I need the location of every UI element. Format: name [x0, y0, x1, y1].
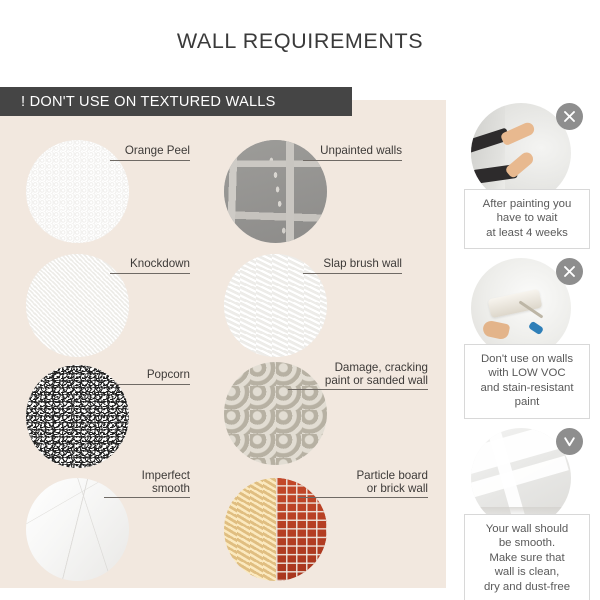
label-line: paint or sanded wall — [325, 374, 428, 387]
particle-board-half — [224, 478, 276, 581]
caption-line: dry and dust-free — [484, 581, 570, 593]
warning-banner-label: ! DON'T USE ON TEXTURED WALLS — [0, 94, 276, 110]
imperfect-smooth-label: Imperfect smooth — [104, 470, 190, 498]
slap-brush-wall-label: Slap brush wall — [303, 258, 402, 274]
card-caption: After painting you have to wait at least… — [464, 189, 590, 249]
caption-line: with LOW VOC — [488, 367, 565, 379]
caption-line: at least 4 weeks — [486, 227, 568, 239]
label-line: Orange Peel — [125, 144, 190, 157]
label-line: Slap brush wall — [323, 257, 402, 270]
caption-line: Make sure that — [489, 552, 564, 564]
card-caption: Your wall should be smooth. Make sure th… — [464, 514, 590, 600]
label-line: Popcorn — [147, 368, 190, 381]
caption-line: and stain-resistant — [480, 382, 573, 394]
caption-line: have to wait — [497, 212, 558, 224]
caption-line: wall is clean, — [495, 566, 560, 578]
orange-peel-label: Orange Peel — [110, 145, 190, 161]
caption-line: Your wall should — [486, 523, 569, 535]
caption-line: Don't use on walls — [481, 353, 573, 365]
label-underline — [303, 160, 402, 161]
label-line: smooth — [152, 482, 190, 495]
label-underline — [110, 273, 190, 274]
caption-line: After painting you — [483, 198, 572, 210]
advice-card-smooth-clean-wall: Your wall should be smooth. Make sure th… — [464, 428, 590, 600]
label-line: Unpainted walls — [320, 144, 402, 157]
caption-line: be smooth. — [499, 537, 555, 549]
card-photo — [471, 103, 583, 203]
label-line: or brick wall — [367, 482, 428, 495]
x-mark-icon — [556, 103, 583, 130]
knockdown-label: Knockdown — [110, 258, 190, 274]
label-line: Damage, cracking — [335, 361, 428, 374]
label-underline — [110, 384, 190, 385]
advice-card-wait-4-weeks: After painting you have to wait at least… — [464, 103, 590, 249]
particle-board-brick-label: Particle board or brick wall — [298, 470, 428, 498]
label-underline — [110, 160, 190, 161]
advice-card-low-voc-paint: Don't use on walls with LOW VOC and stai… — [464, 258, 590, 419]
label-line: Imperfect — [142, 469, 190, 482]
x-mark-icon — [556, 258, 583, 285]
caption-line: paint — [515, 396, 540, 408]
popcorn-label: Popcorn — [110, 369, 190, 385]
card-caption: Don't use on walls with LOW VOC and stai… — [464, 344, 590, 419]
label-underline — [303, 273, 402, 274]
label-line: Particle board — [356, 469, 428, 482]
damage-cracking-label: Damage, cracking paint or sanded wall — [288, 362, 428, 390]
check-mark-icon — [556, 428, 583, 455]
card-photo — [471, 258, 583, 358]
warning-banner: ! DON'T USE ON TEXTURED WALLS — [0, 87, 352, 116]
label-underline — [104, 497, 190, 498]
card-photo — [471, 428, 583, 528]
label-line: Knockdown — [130, 257, 190, 270]
unpainted-walls-label: Unpainted walls — [303, 145, 402, 161]
label-underline — [288, 389, 428, 390]
page-title: WALL REQUIREMENTS — [0, 29, 600, 54]
label-underline — [298, 497, 428, 498]
